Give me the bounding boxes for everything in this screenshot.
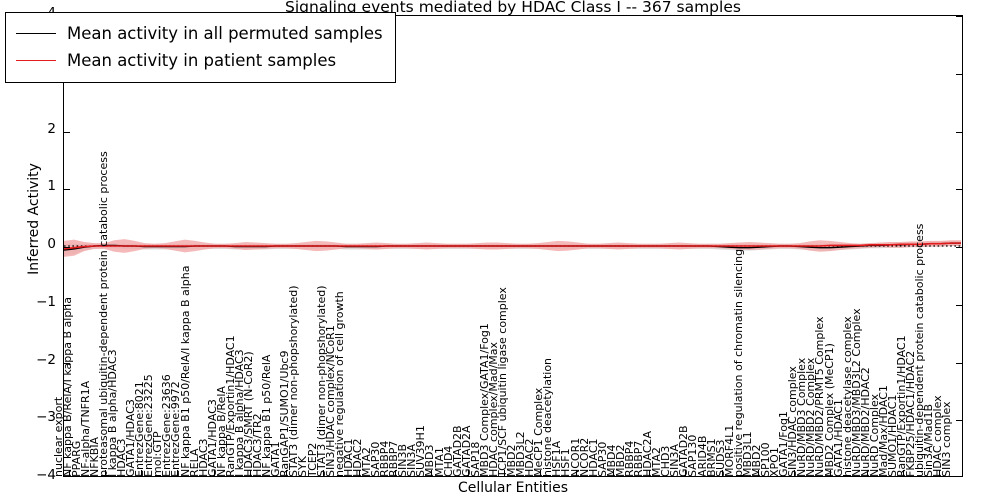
x-tick-mark (939, 470, 940, 476)
y-tick-mark (64, 305, 70, 306)
y-tick-mark (956, 247, 962, 248)
chart-figure: Signaling events mediated by HDAC Class … (0, 0, 1000, 500)
y-tick-mark (956, 16, 962, 17)
x-tick-mark (830, 470, 831, 476)
x-tick-mark (685, 470, 686, 476)
legend-line-swatch-patient (16, 60, 56, 61)
y-tick-label: −1 (20, 296, 56, 310)
y-tick-mark (64, 420, 70, 421)
x-tick-mark (794, 470, 795, 476)
x-tick-mark (576, 470, 577, 476)
y-tick-label: 1 (20, 180, 56, 194)
x-tick-mark (395, 470, 396, 476)
plot-area (63, 15, 963, 477)
y-tick-mark (956, 74, 962, 75)
y-tick-mark (64, 189, 70, 190)
x-tick-mark (250, 470, 251, 476)
legend-label-permuted: Mean activity in all permuted samples (67, 24, 383, 43)
y-tick-mark (956, 189, 962, 190)
x-tick-mark (504, 470, 505, 476)
y-tick-mark (64, 247, 70, 248)
x-axis-label: Cellular Entities (63, 480, 963, 496)
x-tick-mark (867, 470, 868, 476)
plot-canvas (64, 16, 962, 476)
y-tick-label: −4 (20, 469, 56, 483)
x-tick-mark (649, 470, 650, 476)
y-tick-mark (64, 132, 70, 133)
x-tick-mark (141, 470, 142, 476)
x-tick-mark (758, 470, 759, 476)
legend-label-patient: Mean activity in patient samples (67, 51, 336, 70)
x-tick-mark (613, 470, 614, 476)
chart-legend: Mean activity in all permuted samples Me… (5, 12, 396, 83)
x-tick-mark (722, 470, 723, 476)
x-tick-mark (69, 470, 70, 476)
y-tick-mark (64, 363, 70, 364)
y-tick-mark (956, 305, 962, 306)
x-tick-mark (105, 470, 106, 476)
x-tick-mark (540, 470, 541, 476)
x-tick-mark (177, 470, 178, 476)
y-tick-mark (956, 363, 962, 364)
y-tick-mark (956, 132, 962, 133)
y-tick-label: −3 (20, 411, 56, 425)
x-tick-mark (286, 470, 287, 476)
y-tick-label: −2 (20, 354, 56, 368)
y-tick-label: 2 (20, 123, 56, 137)
y-tick-label: 0 (20, 238, 56, 252)
legend-item-permuted: Mean activity in all permuted samples (16, 20, 383, 47)
x-tick-mark (359, 470, 360, 476)
x-tick-mark (323, 470, 324, 476)
x-tick-mark (468, 470, 469, 476)
y-tick-mark (956, 420, 962, 421)
x-tick-mark (431, 470, 432, 476)
legend-line-swatch-permuted (16, 33, 56, 34)
x-tick-mark (903, 470, 904, 476)
x-tick-mark (214, 470, 215, 476)
legend-item-patient: Mean activity in patient samples (16, 47, 383, 74)
